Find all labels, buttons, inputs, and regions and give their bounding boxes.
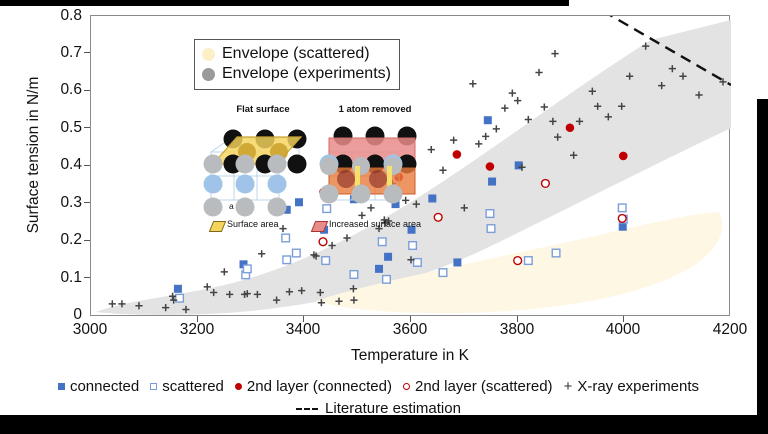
x-tick-label: 4000 (588, 321, 658, 339)
envelope-experiments-label: Envelope (experiments) (222, 65, 391, 83)
point-scattered (176, 294, 184, 302)
open-square-blue-icon (150, 383, 157, 390)
point-xray (475, 140, 482, 147)
inset-caption-increased-surface-area: Increased surface area (329, 219, 421, 229)
point-scattered (409, 242, 417, 250)
x-tick-label: 3800 (482, 321, 552, 339)
point-2nd-layer-scattered (319, 238, 327, 246)
filled-circle-red-icon (235, 383, 242, 390)
x-tick-label: 3400 (268, 321, 338, 339)
point-scattered (552, 249, 560, 257)
point-scattered (383, 276, 391, 284)
point-2nd-layer-scattered (542, 180, 550, 188)
y-tick-label: 0.6 (30, 81, 82, 99)
filled-square-blue-icon (58, 383, 65, 390)
legend-item-2nd-layer-scattered: 2nd layer (scattered) (403, 378, 553, 395)
y-tick-label: 0.8 (30, 7, 82, 25)
point-2nd-layer-scattered (514, 257, 522, 265)
point-scattered (525, 257, 533, 265)
surface-tension-figure: Surface tension in N/m Temperature in K … (0, 6, 757, 415)
point-2nd-layer-connected (486, 162, 495, 171)
x-axis-label: Temperature in K (90, 347, 730, 365)
point-xray (535, 69, 542, 76)
point-2nd-layer-connected (566, 123, 575, 132)
point-2nd-layer-connected (619, 152, 628, 161)
y-tick-label: 0.5 (30, 119, 82, 137)
crystal-structure-inset: Flat surface 1 atom removed (203, 104, 431, 232)
point-xray (258, 250, 265, 257)
series-legend-row-1: connected scattered 2nd layer (connected… (0, 378, 757, 395)
envelope-scattered-swatch-icon (202, 48, 215, 61)
bottom-black-band (0, 415, 768, 434)
point-2nd-layer-scattered (434, 213, 442, 221)
point-xray (450, 137, 457, 144)
legend-row-envelope-experiments: Envelope (experiments) (202, 64, 391, 84)
envelope-legend: Envelope (scattered) Envelope (experimen… (194, 39, 400, 90)
point-scattered (293, 249, 301, 257)
dashed-line-icon (296, 408, 318, 410)
point-xray (493, 125, 500, 132)
inset-caption-surface-area: Surface area (227, 219, 279, 229)
point-2nd-layer-connected (453, 150, 462, 159)
point-scattered (282, 234, 290, 242)
point-xray (501, 105, 508, 112)
x-tick-label: 3600 (375, 321, 445, 339)
point-connected (619, 223, 627, 231)
point-scattered (618, 204, 626, 212)
point-xray (551, 50, 558, 57)
point-xray (514, 97, 521, 104)
legend-item-2nd-layer-connected: 2nd layer (connected) (235, 378, 392, 395)
x-tick-label: 3000 (55, 321, 125, 339)
point-scattered (322, 257, 330, 265)
right-black-band (757, 99, 768, 417)
plus-marker-icon: + (564, 382, 573, 392)
legend-label-scattered: scattered (162, 378, 224, 395)
x-tick-label: 4200 (695, 321, 765, 339)
y-tick-label: 0.2 (30, 231, 82, 249)
legend-label-literature-estimation: Literature estimation (325, 402, 461, 415)
point-scattered (350, 271, 358, 279)
point-xray (509, 90, 516, 97)
point-xray (221, 268, 228, 275)
point-scattered (378, 238, 386, 246)
point-connected (174, 285, 182, 293)
point-xray (482, 133, 489, 140)
envelope-scattered-label: Envelope (scattered) (222, 45, 370, 63)
point-connected (488, 178, 496, 186)
point-scattered (283, 256, 291, 264)
y-tick-label: 0.7 (30, 44, 82, 62)
point-xray (439, 167, 446, 174)
point-scattered (243, 265, 251, 273)
envelope-experiments-swatch-icon (202, 68, 215, 81)
y-tick-label: 0.1 (30, 269, 82, 287)
point-2nd-layer-scattered (618, 215, 626, 223)
x-tick-label: 3200 (162, 321, 232, 339)
inset-svg: a (203, 104, 431, 232)
legend-label-2nd-layer-connected: 2nd layer (connected) (247, 378, 392, 395)
point-scattered (414, 259, 422, 267)
point-xray (541, 103, 548, 110)
point-scattered (439, 269, 447, 277)
point-connected (484, 116, 492, 124)
atoms-right-cell (320, 127, 417, 204)
y-tick-label: 0.4 (30, 156, 82, 174)
point-connected (384, 253, 392, 261)
point-scattered (486, 210, 494, 218)
legend-item-scattered: scattered (150, 378, 224, 395)
point-xray (469, 80, 476, 87)
lattice-constant-label: a (229, 201, 234, 211)
plot-area: Envelope (scattered) Envelope (experimen… (90, 15, 730, 316)
legend-row-envelope-scattered: Envelope (scattered) (202, 44, 391, 64)
atoms-left-cell (204, 130, 307, 217)
point-connected (453, 258, 461, 266)
series-legend-row-2: Literature estimation (0, 402, 757, 415)
point-connected (375, 265, 383, 273)
legend-label-connected: connected (70, 378, 139, 395)
point-scattered (487, 225, 495, 233)
legend-label-xray-experiments: X-ray experiments (577, 378, 699, 395)
legend-item-xray-experiments: + X-ray experiments (564, 378, 699, 395)
legend-item-connected: connected (58, 378, 139, 395)
legend-label-2nd-layer-scattered: 2nd layer (scattered) (415, 378, 553, 395)
y-tick-label: 0.3 (30, 194, 82, 212)
open-circle-red-icon (403, 383, 410, 390)
